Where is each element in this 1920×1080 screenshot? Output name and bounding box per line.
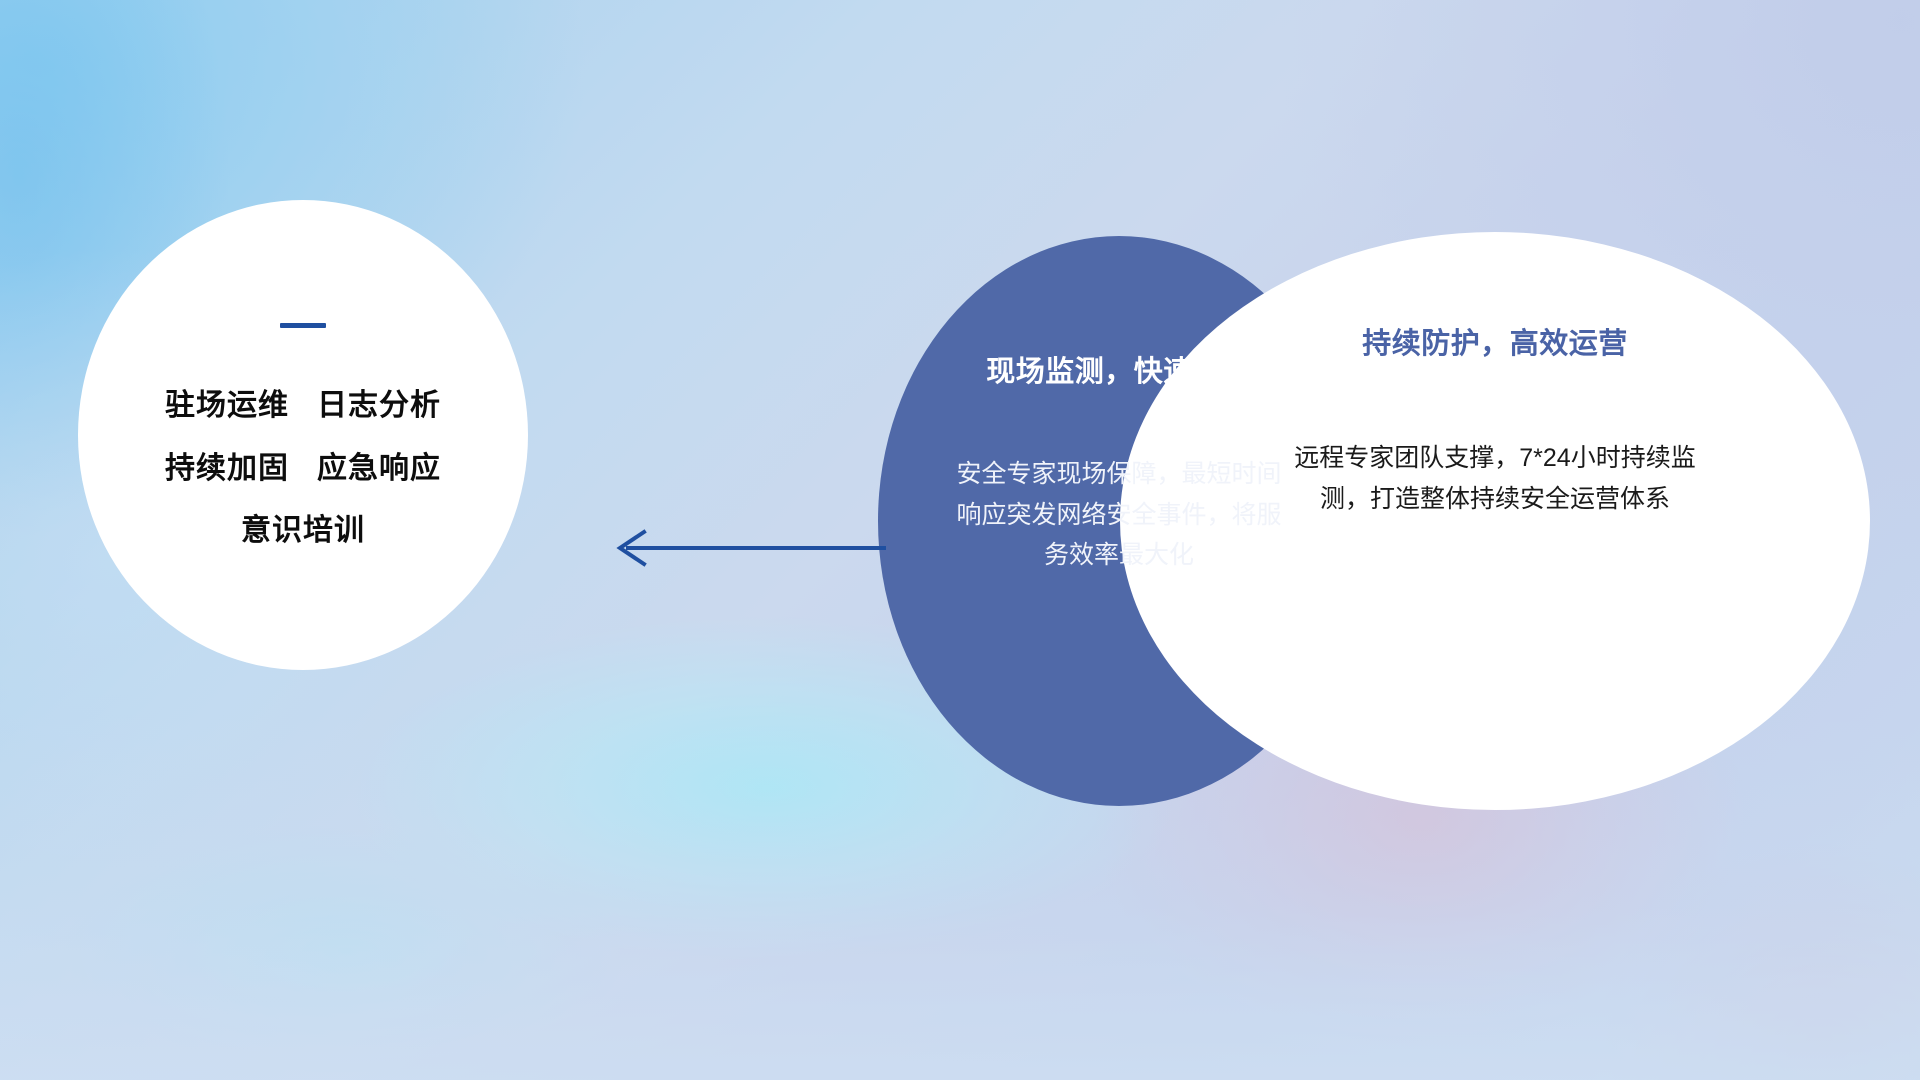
left-circle-content: 驻场运维 日志分析 持续加固 应急响应 意识培训 [78, 200, 528, 670]
left-circle-line-2: 持续加固 应急响应 [165, 453, 441, 485]
left-circle-line-3: 意识培训 [241, 515, 365, 547]
left-circle-divider [280, 323, 326, 328]
right-circle-title: 持续防护，高效运营 [1362, 320, 1628, 362]
right-circle-body: 远程专家团队支撑，7*24小时持续监测，打造整体持续安全运营体系 [1286, 438, 1704, 519]
left-circle-line-1: 驻场运维 日志分析 [165, 390, 441, 422]
right-circle-content: 持续防护，高效运营 远程专家团队支撑，7*24小时持续监测，打造整体持续安全运营… [1120, 232, 1870, 810]
slide-canvas: 驻场运维 日志分析 持续加固 应急响应 意识培训 现场监测，快速响应 安全专家现… [0, 0, 1920, 1080]
